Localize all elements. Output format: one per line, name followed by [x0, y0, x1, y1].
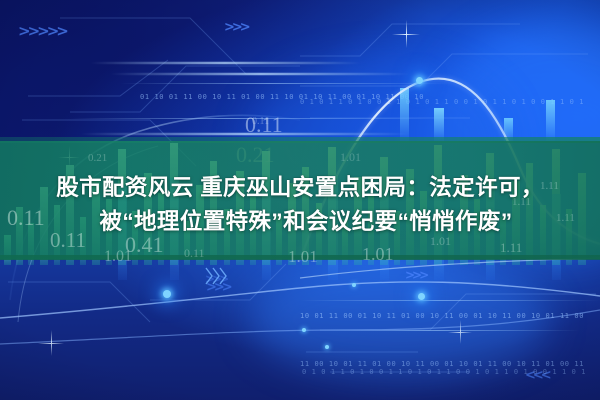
vignette-overlay	[0, 0, 600, 400]
banner-image: >>>>> >>> >>> >>> <<< >>> 01 10 01 11 00…	[0, 0, 600, 400]
